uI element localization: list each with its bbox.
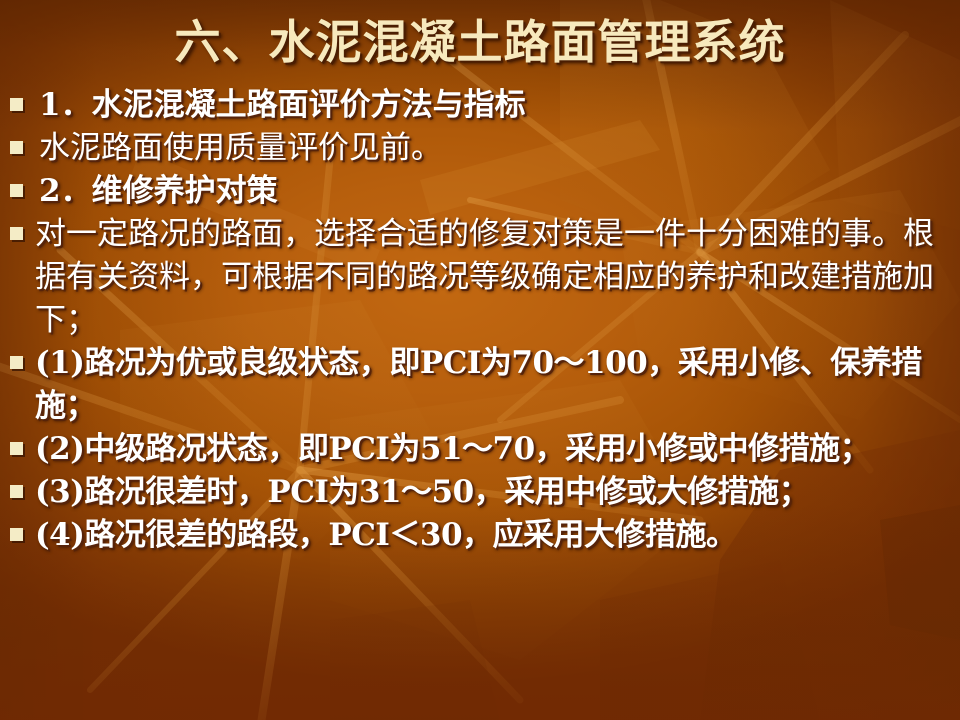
square-bullet-icon [10,442,23,455]
list-item: 1．水泥混凝土路面评价方法与指标 [0,84,960,127]
list-item-label: (3)路况很差时，PCI为31～50，采用中修或大修措施； [35,471,952,514]
square-bullet-icon [10,141,23,154]
list-item-label: (1)路况为优或良级状态，即PCI为70～100，采用小修、保养措施； [35,342,952,428]
list-item-label: 对一定路况的路面，选择合适的修复对策是一件十分困难的事。根据有关资料，可根据不同… [35,213,952,342]
list-item-label: 1．水泥混凝土路面评价方法与指标 [35,84,952,127]
list-item: (4)路况很差的路段，PCI＜30，应采用大修措施。 [0,514,960,557]
list-item-label: 水泥路面使用质量评价见前。 [35,127,952,170]
list-item: (3)路况很差时，PCI为31～50，采用中修或大修措施； [0,471,960,514]
square-bullet-icon [10,485,23,498]
slide-canvas: 六、水泥混凝土路面管理系统 1．水泥混凝土路面评价方法与指标 水泥路面使用质量评… [0,0,960,720]
square-bullet-icon [10,227,23,240]
list-item: 2．维修养护对策 [0,170,960,213]
bullet-list: 1．水泥混凝土路面评价方法与指标 水泥路面使用质量评价见前。 2．维修养护对策 … [0,84,960,557]
list-item-label: 2．维修养护对策 [35,170,952,213]
square-bullet-icon [10,528,23,541]
square-bullet-icon [10,356,23,369]
list-item-label: (4)路况很差的路段，PCI＜30，应采用大修措施。 [35,514,952,557]
square-bullet-icon [10,98,23,111]
list-item: 对一定路况的路面，选择合适的修复对策是一件十分困难的事。根据有关资料，可根据不同… [0,213,960,342]
list-item-label: (2)中级路况状态，即PCI为51～70，采用小修或中修措施； [35,428,952,471]
slide-title: 六、水泥混凝土路面管理系统 [0,6,960,72]
list-item: (1)路况为优或良级状态，即PCI为70～100，采用小修、保养措施； [0,342,960,428]
list-item: (2)中级路况状态，即PCI为51～70，采用小修或中修措施； [0,428,960,471]
list-item: 水泥路面使用质量评价见前。 [0,127,960,170]
square-bullet-icon [10,184,23,197]
